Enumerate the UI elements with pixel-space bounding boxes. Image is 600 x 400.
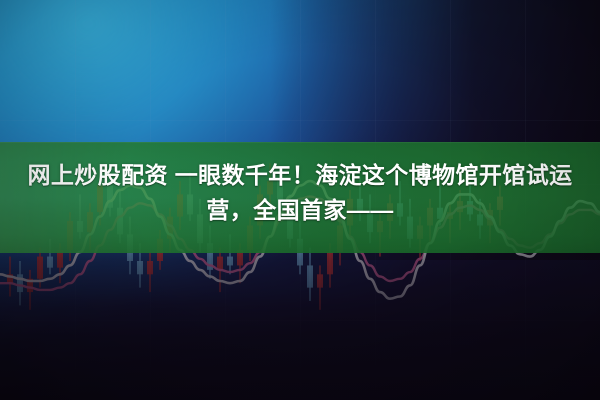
banner-image: 网上炒股配资 一眼数千年！海淀这个博物馆开馆试运营，全国首家—— bbox=[0, 0, 600, 400]
headline-text: 网上炒股配资 一眼数千年！海淀这个博物馆开馆试运营，全国首家—— bbox=[0, 158, 600, 228]
